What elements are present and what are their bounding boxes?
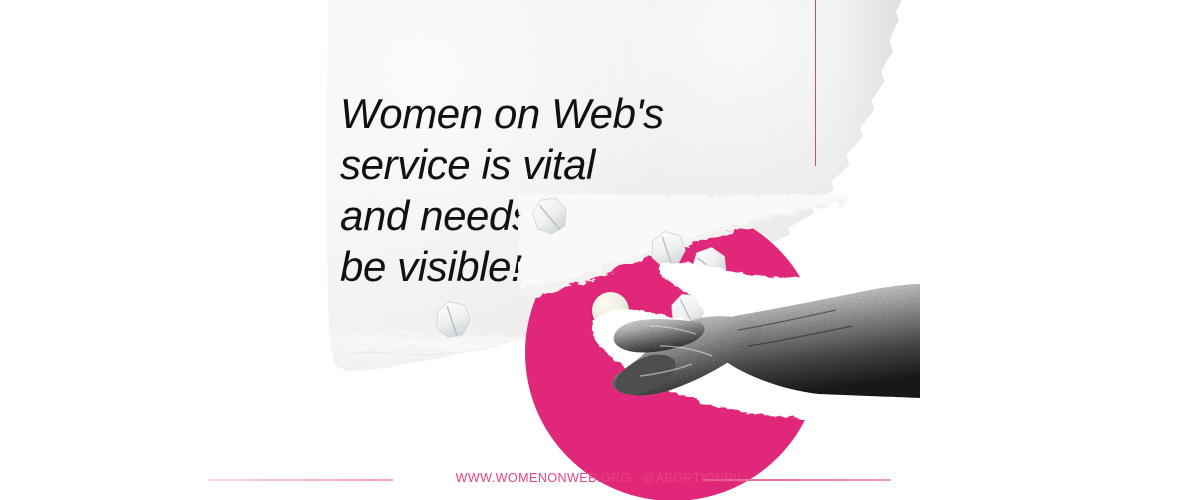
pill-round — [592, 292, 629, 329]
vertical-accent-rule — [815, 0, 816, 166]
circle-graphic — [500, 180, 920, 480]
poster-canvas: Women on Web's service is vital and need… — [0, 0, 1200, 500]
pill-top — [527, 193, 572, 238]
footer: WWW.WOMENONWEB.ORG. @ABORTIONPIL — [0, 460, 1200, 500]
footer-credits[interactable]: WWW.WOMENONWEB.ORG. @ABORTIONPIL — [0, 471, 1200, 485]
pill-center — [666, 290, 710, 334]
